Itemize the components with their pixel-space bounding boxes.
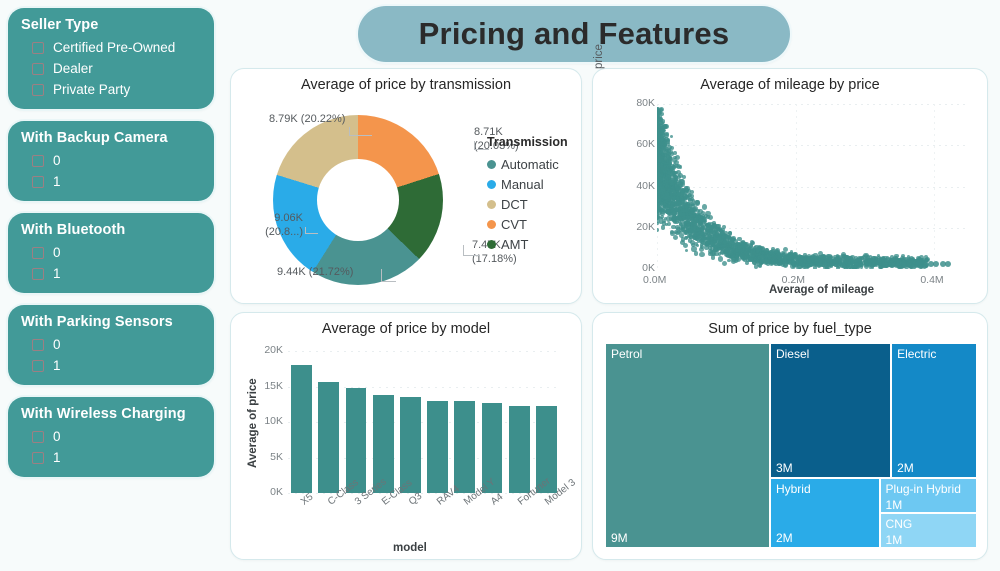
treemap-cell-label: Petrol bbox=[611, 347, 642, 361]
scatter-point bbox=[660, 209, 665, 214]
slicer-option-label: 0 bbox=[53, 245, 61, 260]
scatter-point bbox=[933, 261, 939, 267]
treemap-cell-diesel[interactable]: Diesel3M bbox=[770, 343, 891, 478]
page-title: Pricing and Features bbox=[358, 6, 790, 62]
slicer-option-label: 1 bbox=[53, 358, 61, 373]
scatter-point bbox=[725, 236, 730, 241]
scatter-point bbox=[825, 265, 829, 269]
checkbox-icon[interactable] bbox=[32, 431, 44, 443]
scatter-point bbox=[661, 131, 665, 135]
slicer-title: With Bluetooth bbox=[21, 222, 202, 238]
slicer-option[interactable]: 1 bbox=[32, 263, 202, 284]
scatter-y-axis-title: price bbox=[593, 0, 605, 69]
treemap-cell-label: CNG bbox=[886, 517, 913, 531]
scatter-point bbox=[714, 224, 719, 229]
scatter-point bbox=[699, 252, 704, 257]
scatter-point bbox=[667, 174, 670, 177]
slicer-option-label: Private Party bbox=[53, 82, 130, 97]
scatter-point bbox=[671, 225, 675, 229]
page-title-text: Pricing and Features bbox=[419, 16, 730, 52]
scatter-point bbox=[669, 157, 673, 161]
scatter-point bbox=[678, 212, 683, 217]
scatter-point bbox=[665, 209, 669, 213]
treemap-cell-hybrid[interactable]: Hybrid2M bbox=[770, 478, 880, 548]
scatter-point bbox=[695, 213, 699, 217]
treemap-cell-value: 1M bbox=[886, 533, 903, 547]
checkbox-icon[interactable] bbox=[32, 339, 44, 351]
slicer-option[interactable]: 0 bbox=[32, 150, 202, 171]
slicer-panel: Seller TypeCertified Pre-OwnedDealerPriv… bbox=[8, 8, 218, 563]
bar[interactable] bbox=[346, 388, 367, 493]
scatter-point bbox=[750, 247, 753, 250]
slicer-option-label: 1 bbox=[53, 450, 61, 465]
bar-y-tick: 20K bbox=[261, 344, 283, 356]
scatter-point bbox=[895, 259, 900, 264]
scatter-x-tick: 0.4M bbox=[920, 274, 943, 286]
slicer-option[interactable]: 1 bbox=[32, 355, 202, 376]
scatter-point bbox=[670, 135, 673, 138]
scatter-point bbox=[731, 256, 736, 261]
treemap-cell-label: Diesel bbox=[776, 347, 809, 361]
scatter-point bbox=[755, 249, 760, 254]
scatter-point bbox=[673, 235, 678, 240]
bar[interactable] bbox=[400, 397, 421, 493]
scatter-point bbox=[666, 138, 670, 142]
scatter-point bbox=[666, 152, 671, 157]
legend-item-dct[interactable]: DCT bbox=[487, 194, 568, 214]
scatter-point bbox=[761, 251, 765, 255]
scatter-point bbox=[675, 202, 679, 206]
legend-item-automatic[interactable]: Automatic bbox=[487, 154, 568, 174]
donut-chart-card[interactable]: Average of price by transmission 8.79K (… bbox=[230, 68, 582, 304]
bar[interactable] bbox=[318, 382, 339, 493]
slicer-option[interactable]: 0 bbox=[32, 242, 202, 263]
scatter-point bbox=[669, 195, 674, 200]
slicer-title: With Backup Camera bbox=[21, 130, 202, 146]
donut-chart-title: Average of price by transmission bbox=[231, 77, 581, 93]
bar[interactable] bbox=[509, 406, 530, 493]
treemap-cell-cng[interactable]: CNG1M bbox=[880, 513, 977, 548]
slicer-option[interactable]: 1 bbox=[32, 171, 202, 192]
scatter-point bbox=[672, 158, 677, 163]
scatter-point bbox=[683, 197, 687, 201]
slicer-title: With Wireless Charging bbox=[21, 406, 202, 422]
scatter-point bbox=[676, 182, 681, 187]
scatter-y-tick: 40K bbox=[631, 180, 655, 192]
legend-swatch-icon bbox=[487, 200, 496, 209]
donut-label-manual: 9.06K (20.8...) bbox=[241, 212, 303, 240]
scatter-chart-title: Average of mileage by price bbox=[593, 77, 987, 93]
checkbox-icon[interactable] bbox=[32, 360, 44, 372]
scatter-point bbox=[692, 199, 696, 203]
donut-leader-line bbox=[474, 141, 489, 150]
slicer-option[interactable]: 0 bbox=[32, 426, 202, 447]
treemap-cell-label: Electric bbox=[897, 347, 936, 361]
donut-legend-rows: AutomaticManualDCTCVTAMT bbox=[487, 154, 568, 254]
legend-swatch-icon bbox=[487, 240, 496, 249]
scatter-point bbox=[694, 251, 699, 256]
bar-y-tick: 5K bbox=[261, 451, 283, 463]
scatter-x-tick: 0.0M bbox=[643, 274, 666, 286]
scatter-point bbox=[680, 240, 685, 245]
scatter-point bbox=[682, 208, 686, 212]
scatter-point bbox=[901, 262, 906, 267]
treemap-cell-value: 3M bbox=[776, 461, 793, 475]
gridline bbox=[657, 187, 969, 188]
slicer-with-bluetooth[interactable]: With Bluetooth01 bbox=[8, 213, 214, 293]
legend-item-label: CVT bbox=[501, 217, 527, 232]
treemap-cell-value: 2M bbox=[897, 461, 914, 475]
scatter-y-tick: 20K bbox=[631, 221, 655, 233]
gridline bbox=[796, 104, 797, 269]
scatter-point bbox=[730, 240, 733, 243]
bar-x-axis-title: model bbox=[393, 542, 427, 554]
slicer-seller-type[interactable]: Seller TypeCertified Pre-OwnedDealerPriv… bbox=[8, 8, 214, 109]
treemap-card[interactable]: Sum of price by fuel_type Petrol9MDiesel… bbox=[592, 312, 988, 560]
slicer-with-wireless-charging[interactable]: With Wireless Charging01 bbox=[8, 397, 214, 477]
scatter-y-tick: 80K bbox=[631, 97, 655, 109]
legend-swatch-icon bbox=[487, 160, 496, 169]
legend-item-manual[interactable]: Manual bbox=[487, 174, 568, 194]
scatter-point bbox=[657, 228, 659, 232]
checkbox-icon[interactable] bbox=[32, 176, 44, 188]
treemap-cell-electric[interactable]: Electric2M bbox=[891, 343, 977, 478]
legend-item-cvt[interactable]: CVT bbox=[487, 214, 568, 234]
slicer-option-label: Certified Pre-Owned bbox=[53, 40, 175, 55]
scatter-point bbox=[674, 176, 678, 180]
scatter-point bbox=[705, 228, 709, 232]
donut-hole bbox=[317, 159, 399, 241]
scatter-point bbox=[916, 260, 922, 266]
scatter-point bbox=[833, 255, 838, 260]
scatter-point bbox=[871, 262, 876, 267]
slicer-with-parking-sensors[interactable]: With Parking Sensors01 bbox=[8, 305, 214, 385]
donut-leader-line bbox=[463, 245, 480, 256]
scatter-point bbox=[659, 124, 664, 129]
slicer-option[interactable]: Private Party bbox=[32, 79, 202, 100]
scatter-point bbox=[694, 200, 699, 205]
scatter-point bbox=[670, 146, 674, 150]
scatter-point bbox=[685, 249, 688, 252]
checkbox-icon[interactable] bbox=[32, 155, 44, 167]
donut-leader-line bbox=[381, 269, 396, 282]
scatter-point bbox=[663, 200, 666, 203]
slicer-title: With Parking Sensors bbox=[21, 314, 202, 330]
bar[interactable] bbox=[427, 401, 448, 493]
slicer-option-label: 0 bbox=[53, 337, 61, 352]
scatter-point bbox=[690, 222, 694, 226]
gridline bbox=[288, 351, 560, 352]
checkbox-icon[interactable] bbox=[32, 63, 44, 75]
scatter-point bbox=[737, 244, 741, 248]
bar[interactable] bbox=[454, 401, 475, 493]
scatter-point bbox=[702, 204, 707, 209]
scatter-point bbox=[691, 203, 695, 207]
dashboard-canvas: Seller TypeCertified Pre-OwnedDealerPriv… bbox=[0, 0, 1000, 571]
gridline bbox=[934, 104, 935, 269]
scatter-point bbox=[842, 264, 847, 269]
checkbox-icon[interactable] bbox=[32, 42, 44, 54]
bar-y-tick: 10K bbox=[261, 415, 283, 427]
donut-legend: Transmission AutomaticManualDCTCVTAMT bbox=[487, 135, 568, 254]
treemap-cell-petrol[interactable]: Petrol9M bbox=[605, 343, 770, 548]
bar-chart-title: Average of price by model bbox=[231, 321, 581, 337]
scatter-point bbox=[711, 255, 715, 259]
slicer-option[interactable]: 1 bbox=[32, 447, 202, 468]
legend-item-label: Manual bbox=[501, 177, 544, 192]
slicer-option-label: Dealer bbox=[53, 61, 93, 76]
scatter-point bbox=[894, 254, 898, 258]
scatter-x-axis-title: Average of mileage bbox=[769, 284, 874, 296]
scatter-point bbox=[679, 233, 684, 238]
legend-item-label: Automatic bbox=[501, 157, 559, 172]
scatter-point bbox=[691, 246, 696, 251]
gridline bbox=[657, 104, 969, 105]
slicer-option[interactable]: 0 bbox=[32, 334, 202, 355]
slicer-option-label: 0 bbox=[53, 429, 61, 444]
bar-y-tick: 0K bbox=[261, 486, 283, 498]
slicer-option-label: 1 bbox=[53, 266, 61, 281]
checkbox-icon[interactable] bbox=[32, 452, 44, 464]
gridline bbox=[657, 145, 969, 146]
scatter-point bbox=[671, 165, 676, 170]
slicer-title: Seller Type bbox=[21, 17, 202, 33]
scatter-plot-area[interactable] bbox=[657, 104, 969, 269]
scatter-point bbox=[778, 257, 782, 261]
scatter-point bbox=[706, 241, 711, 246]
gridline bbox=[288, 493, 560, 494]
checkbox-icon[interactable] bbox=[32, 268, 44, 280]
bar-y-axis-title: Average of price bbox=[247, 378, 259, 468]
scatter-point bbox=[657, 146, 660, 151]
slicer-option[interactable]: Certified Pre-Owned bbox=[32, 37, 202, 58]
scatter-chart-card[interactable]: Average of mileage by price 0K20K40K60K8… bbox=[592, 68, 988, 304]
scatter-point bbox=[664, 184, 669, 189]
scatter-point bbox=[705, 211, 710, 216]
scatter-point bbox=[661, 225, 665, 229]
scatter-point bbox=[750, 257, 754, 261]
bar[interactable] bbox=[291, 365, 312, 494]
legend-item-amt[interactable]: AMT bbox=[487, 234, 568, 254]
treemap-cell-label: Plug-in Hybrid bbox=[886, 482, 961, 496]
scatter-point bbox=[686, 226, 689, 229]
treemap-area[interactable]: Petrol9MDiesel3MElectric2MHybrid2MPlug-i… bbox=[605, 343, 977, 548]
scatter-point bbox=[828, 257, 833, 262]
donut-legend-title: Transmission bbox=[487, 135, 568, 149]
bar-plot-area[interactable] bbox=[288, 351, 560, 493]
scatter-point bbox=[818, 259, 823, 264]
treemap-cell-value: 2M bbox=[776, 531, 793, 545]
scatter-points-layer[interactable] bbox=[657, 104, 969, 269]
treemap-cell-value: 9M bbox=[611, 531, 628, 545]
scatter-point bbox=[922, 260, 926, 264]
treemap-cell-label: Hybrid bbox=[776, 482, 811, 496]
slicer-option-label: 1 bbox=[53, 174, 61, 189]
scatter-point bbox=[669, 216, 673, 220]
checkbox-icon[interactable] bbox=[32, 247, 44, 259]
scatter-y-tick: 60K bbox=[631, 138, 655, 150]
scatter-point bbox=[786, 255, 790, 259]
scatter-point bbox=[891, 258, 895, 262]
scatter-point bbox=[693, 232, 698, 237]
donut-label-dct: 8.79K (20.22%) bbox=[269, 113, 345, 127]
scatter-point bbox=[679, 228, 684, 233]
checkbox-icon[interactable] bbox=[32, 84, 44, 96]
treemap-cell-value: 1M bbox=[886, 498, 903, 512]
legend-swatch-icon bbox=[487, 220, 496, 229]
slicer-option-label: 0 bbox=[53, 153, 61, 168]
scatter-point bbox=[663, 146, 668, 151]
scatter-point bbox=[744, 250, 749, 255]
legend-item-label: DCT bbox=[501, 197, 528, 212]
bar-y-tick: 15K bbox=[261, 380, 283, 392]
scatter-point bbox=[686, 189, 690, 193]
legend-item-label: AMT bbox=[501, 237, 528, 252]
treemap-cell-plug-in-hybrid[interactable]: Plug-in Hybrid1M bbox=[880, 478, 977, 513]
donut-label-automatic: 9.44K (21.72%) bbox=[277, 266, 353, 280]
donut-chart-plot[interactable] bbox=[273, 115, 443, 285]
scatter-point bbox=[659, 172, 662, 175]
scatter-point bbox=[673, 151, 677, 155]
slicer-with-backup-camera[interactable]: With Backup Camera01 bbox=[8, 121, 214, 201]
legend-swatch-icon bbox=[487, 180, 496, 189]
scatter-point bbox=[945, 261, 951, 267]
donut-leader-line bbox=[305, 227, 318, 234]
slicer-option[interactable]: Dealer bbox=[32, 58, 202, 79]
scatter-y-tick: 0K bbox=[631, 262, 655, 274]
treemap-title: Sum of price by fuel_type bbox=[593, 321, 987, 337]
donut-leader-line bbox=[349, 127, 372, 136]
scatter-point bbox=[814, 256, 818, 260]
scatter-point bbox=[754, 264, 758, 268]
bar-chart-card[interactable]: Average of price by model 0K5K10K15K20KX… bbox=[230, 312, 582, 560]
scatter-point bbox=[758, 264, 762, 268]
